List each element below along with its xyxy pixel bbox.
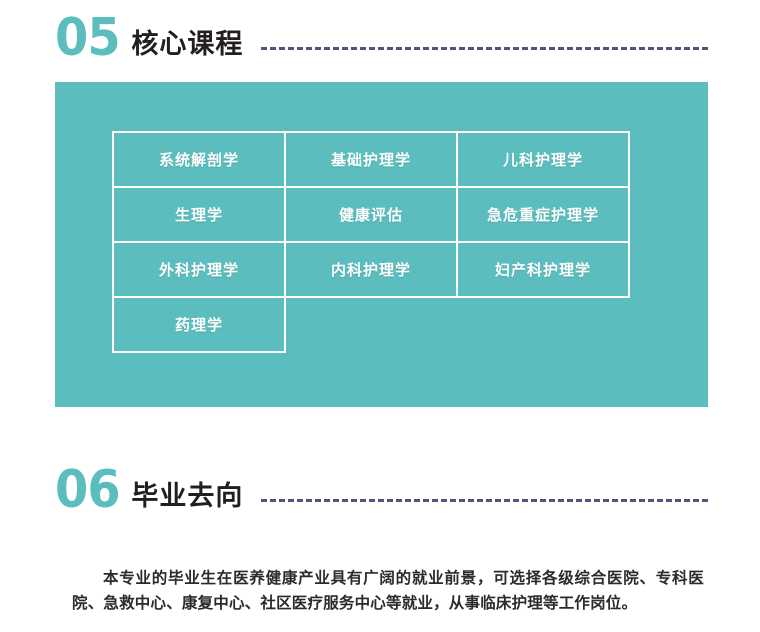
course-cell: 儿科护理学 bbox=[456, 131, 630, 188]
course-cell-empty bbox=[284, 296, 458, 353]
core-courses-panel: 系统解剖学 基础护理学 儿科护理学 生理学 健康评估 急危重症护理学 外科护理学… bbox=[55, 82, 708, 407]
section-header-graduation: 06 毕业去向 bbox=[55, 466, 708, 513]
section-number: 06 bbox=[55, 466, 120, 515]
course-cell: 内科护理学 bbox=[284, 241, 458, 298]
section-header-core-courses: 05 核心课程 bbox=[55, 14, 708, 61]
section-dashed-rule bbox=[261, 47, 708, 50]
course-cell: 妇产科护理学 bbox=[456, 241, 630, 298]
section-number: 05 bbox=[55, 14, 120, 63]
course-cell: 药理学 bbox=[112, 296, 286, 353]
course-cell: 生理学 bbox=[112, 186, 286, 243]
section-title: 核心课程 bbox=[131, 31, 243, 59]
course-cell: 健康评估 bbox=[284, 186, 458, 243]
course-cell-empty bbox=[456, 296, 630, 353]
section-dashed-rule bbox=[261, 499, 708, 502]
course-cell: 急危重症护理学 bbox=[456, 186, 630, 243]
course-cell: 基础护理学 bbox=[284, 131, 458, 188]
course-cell: 系统解剖学 bbox=[112, 131, 286, 188]
course-cell: 外科护理学 bbox=[112, 241, 286, 298]
course-grid: 系统解剖学 基础护理学 儿科护理学 生理学 健康评估 急危重症护理学 外科护理学… bbox=[113, 132, 635, 352]
section-title: 毕业去向 bbox=[131, 483, 243, 511]
graduation-paragraph: 本专业的毕业生在医养健康产业具有广阔的就业前景，可选择各级综合医院、专科医院、急… bbox=[72, 566, 704, 616]
